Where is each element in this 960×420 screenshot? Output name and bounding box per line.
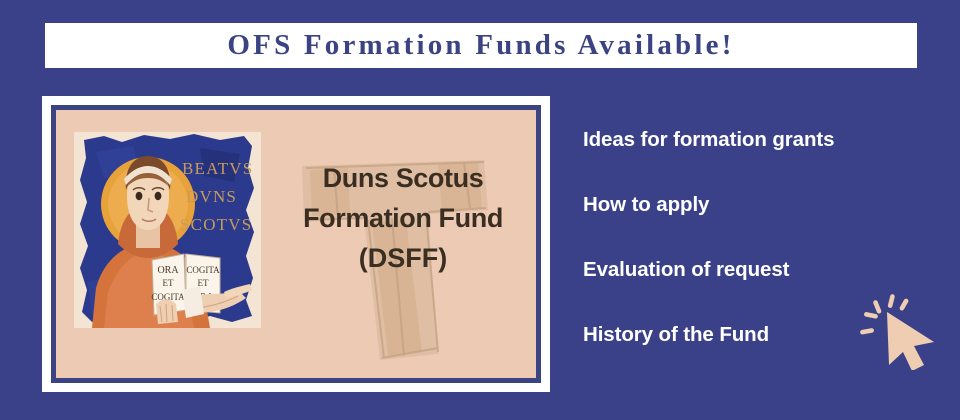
svg-text:ORA: ORA — [157, 265, 179, 276]
svg-text:DVNS: DVNS — [186, 187, 237, 206]
page-title: OFS Formation Funds Available! — [227, 31, 734, 60]
svg-text:ET: ET — [163, 278, 174, 288]
svg-text:BEATVS: BEATVS — [182, 159, 253, 178]
svg-text:COGITA: COGITA — [186, 265, 220, 275]
fund-card: ORA ET COGITA COGITA ET ORA — [42, 96, 550, 392]
list-item[interactable]: Evaluation of request — [583, 258, 933, 282]
fund-title: Duns Scotus Formation Fund (DSFF) — [260, 158, 541, 278]
fund-title-line-1: Duns Scotus — [260, 158, 541, 198]
list-item[interactable]: Ideas for formation grants — [583, 128, 933, 152]
click-cursor-icon — [858, 292, 940, 370]
fund-card-inner: ORA ET COGITA COGITA ET ORA — [51, 105, 541, 383]
list-item[interactable]: How to apply — [583, 193, 933, 217]
fund-title-line-3: (DSFF) — [260, 238, 541, 278]
fund-title-line-2: Formation Fund — [260, 198, 541, 238]
title-banner: OFS Formation Funds Available! — [45, 23, 917, 68]
duns-scotus-fresco: ORA ET COGITA COGITA ET ORA — [74, 132, 261, 328]
poster-canvas: OFS Formation Funds Available! — [0, 0, 960, 420]
svg-text:SCOTVS: SCOTVS — [180, 215, 252, 234]
